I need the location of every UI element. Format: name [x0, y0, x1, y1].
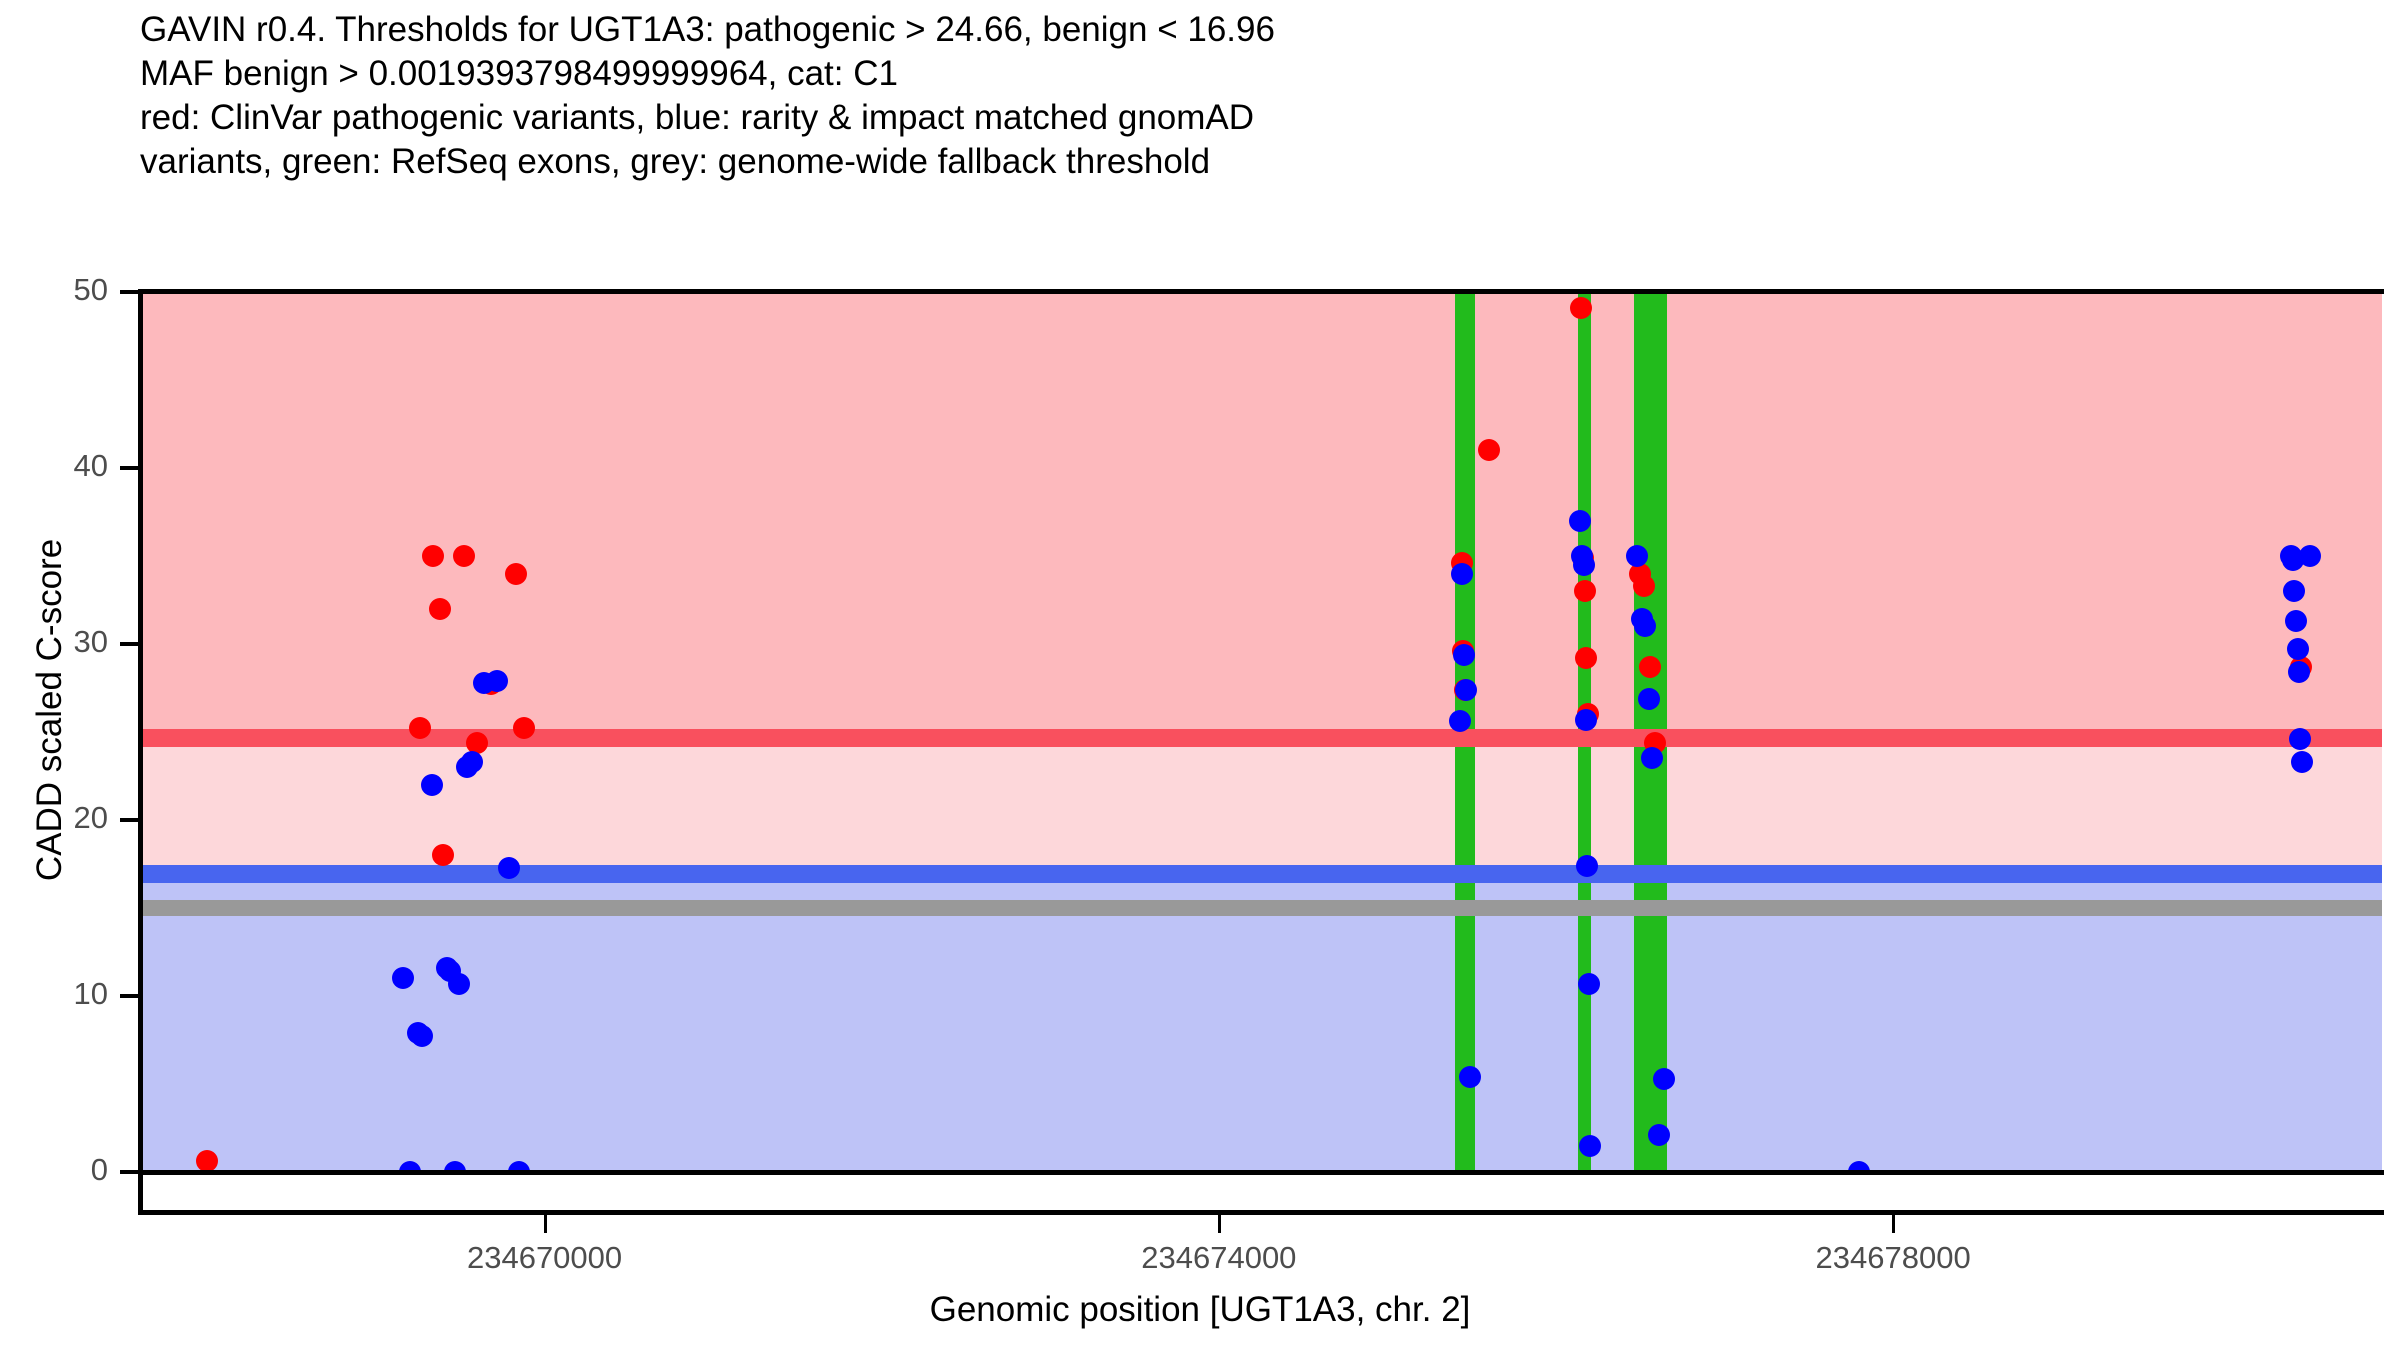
y-axis-tick-label: 0	[0, 1152, 108, 1188]
gnomad-variant-point	[2287, 638, 2309, 660]
band-pathogenic	[140, 292, 2382, 738]
gnomad-variant-point	[1578, 973, 1600, 995]
gnomad-variant-point	[421, 774, 443, 796]
gnomad-variant-point	[1653, 1068, 1675, 1090]
axis-outer-left-rule	[138, 1170, 143, 1215]
gnomad-variant-point	[1638, 688, 1660, 710]
x-axis-tick-label: 234670000	[467, 1240, 622, 1276]
gnomad-variant-point	[498, 857, 520, 879]
x-axis-tick-label: 234674000	[1141, 1240, 1296, 1276]
gnomad-variant-point	[1459, 1066, 1481, 1088]
axis-outer-bottom-rule	[140, 1210, 2384, 1215]
gnomad-variant-point	[2299, 545, 2321, 567]
gnomad-variant-point	[1648, 1124, 1670, 1146]
x-axis-tick	[1892, 1215, 1895, 1233]
title-line-3: red: ClinVar pathogenic variants, blue: …	[140, 96, 2290, 140]
clinvar-pathogenic-point	[1478, 439, 1500, 461]
gnomad-variant-point	[1626, 545, 1648, 567]
title-line-4: variants, green: RefSeq exons, grey: gen…	[140, 140, 2290, 184]
gnomad-variant-point	[1451, 563, 1473, 585]
gnomad-variant-point	[2291, 751, 2313, 773]
benign-threshold-line	[140, 865, 2382, 883]
gnomad-variant-point	[1569, 510, 1591, 532]
gnomad-variant-point	[1453, 644, 1475, 666]
y-axis-tick	[120, 290, 140, 294]
gnomad-variant-point	[448, 973, 470, 995]
band-benign	[140, 874, 2382, 1172]
title-line-1: GAVIN r0.4. Thresholds for UGT1A3: patho…	[140, 8, 2290, 52]
y-axis-tick-label: 50	[0, 272, 108, 308]
axis-left-rule	[138, 289, 143, 1175]
gnomad-variant-point	[1576, 855, 1598, 877]
clinvar-pathogenic-point	[1574, 580, 1596, 602]
y-axis-tick	[120, 1170, 140, 1174]
gnomad-variant-point	[461, 751, 483, 773]
x-axis-tick-label: 234678000	[1816, 1240, 1971, 1276]
y-axis-tick	[120, 466, 140, 470]
clinvar-pathogenic-point	[505, 563, 527, 585]
title-line-2: MAF benign > 0.0019393798499999964, cat:…	[140, 52, 2290, 96]
x-axis-tick	[1218, 1215, 1221, 1233]
clinvar-pathogenic-point	[1633, 575, 1655, 597]
clinvar-pathogenic-point	[429, 598, 451, 620]
gnomad-variant-point	[2288, 661, 2310, 683]
gnomad-variant-point	[411, 1025, 433, 1047]
chart-title-block: GAVIN r0.4. Thresholds for UGT1A3: patho…	[140, 8, 2290, 184]
plot-clip	[140, 292, 2382, 1172]
clinvar-pathogenic-point	[1570, 297, 1592, 319]
fallback-threshold-line	[140, 900, 2382, 916]
y-axis-tick	[120, 994, 140, 998]
clinvar-pathogenic-point	[453, 545, 475, 567]
gnomad-variant-point	[2285, 610, 2307, 632]
y-axis-tick	[120, 642, 140, 646]
x-axis-title: Genomic position [UGT1A3, chr. 2]	[0, 1290, 2400, 1330]
gnomad-variant-point	[1455, 679, 1477, 701]
gnomad-variant-point	[1575, 709, 1597, 731]
axis-bottom-rule	[140, 1170, 2384, 1175]
chart-root: GAVIN r0.4. Thresholds for UGT1A3: patho…	[0, 0, 2400, 1350]
y-axis-tick	[120, 818, 140, 822]
plot-area	[140, 292, 2382, 1172]
y-axis-title: CADD scaled C-score	[30, 330, 70, 1090]
gnomad-variant-point	[1573, 554, 1595, 576]
axis-top-rule	[140, 289, 2384, 294]
gnomad-variant-point	[1579, 1135, 1601, 1157]
x-axis-tick	[544, 1215, 547, 1233]
